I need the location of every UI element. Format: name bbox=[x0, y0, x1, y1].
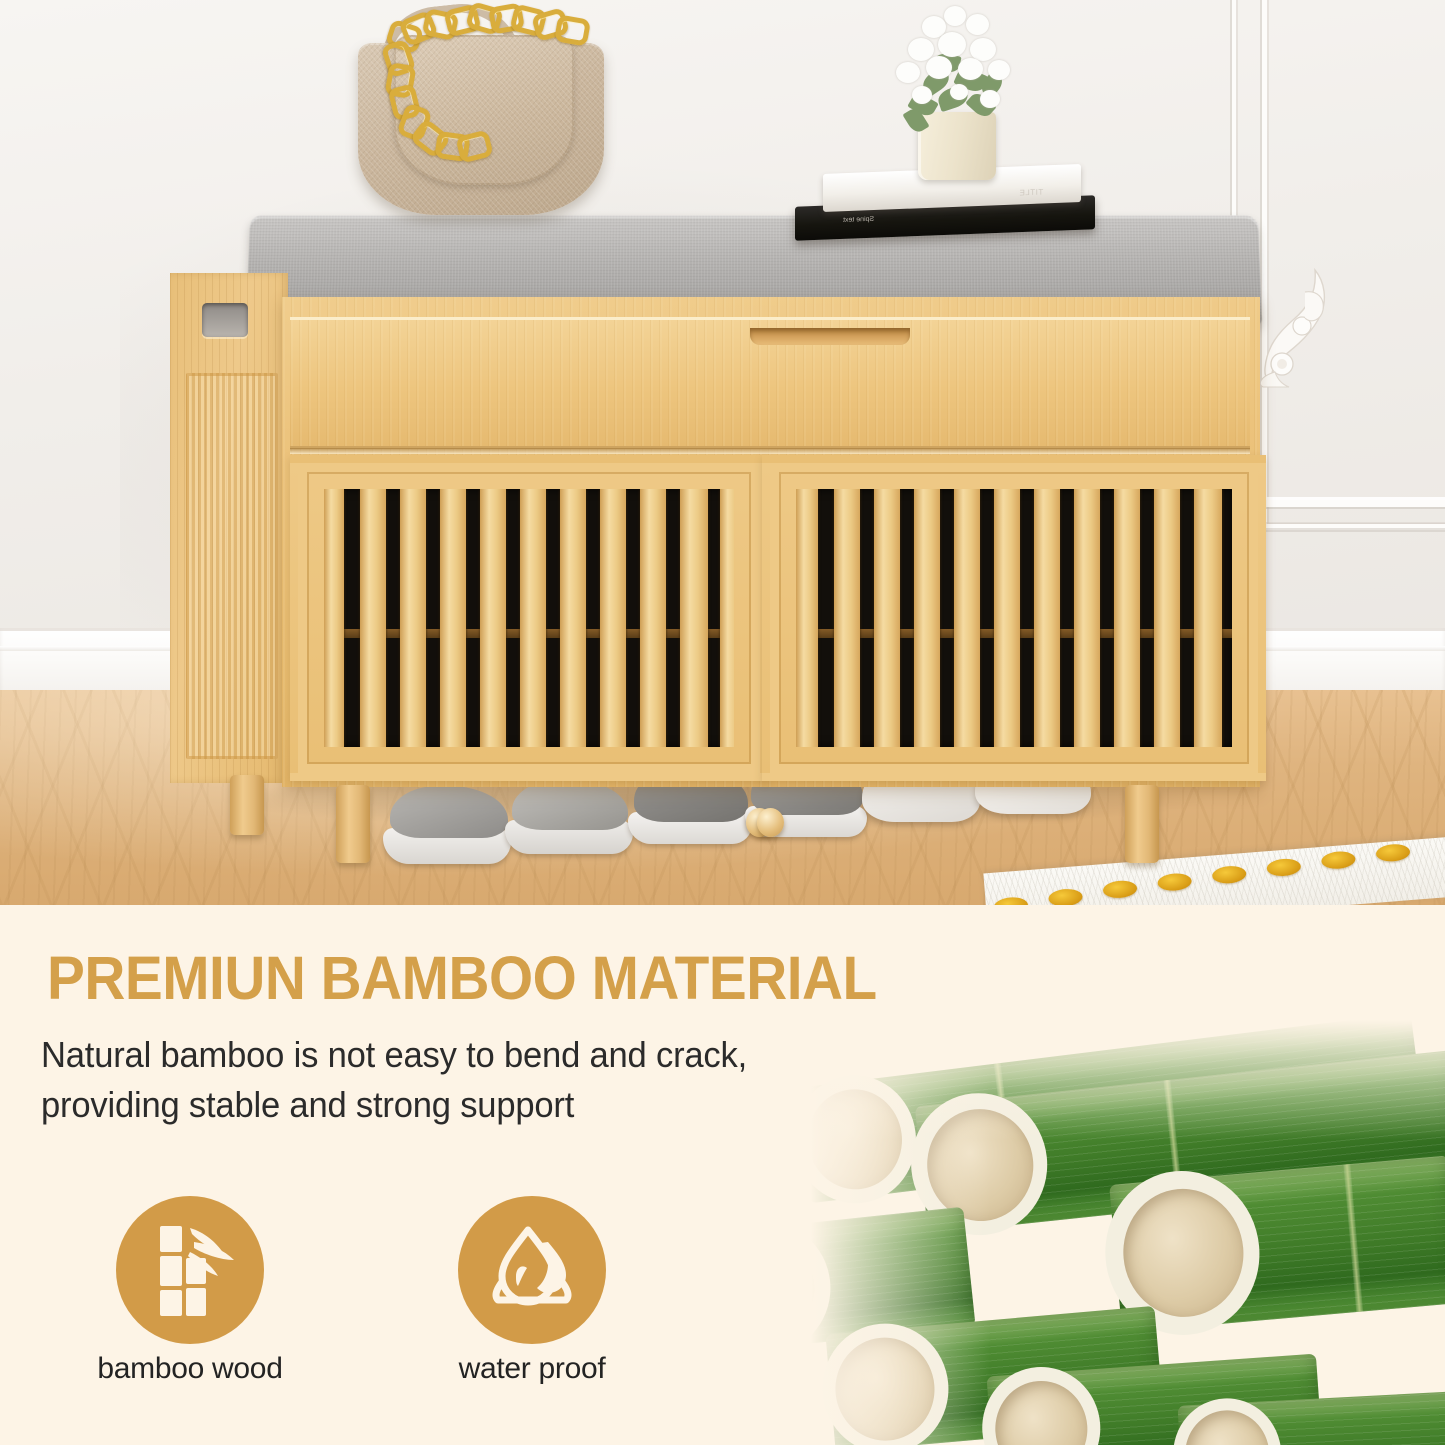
bench-side-panel bbox=[170, 273, 288, 783]
bamboo-culm-3 bbox=[1109, 1155, 1445, 1332]
flower-arrangement bbox=[860, 0, 1060, 190]
scroll-corbel-ornament bbox=[1255, 268, 1341, 388]
storage-bench bbox=[170, 255, 1260, 800]
side-handle-cutout bbox=[202, 303, 248, 337]
door-slats-right bbox=[796, 489, 1232, 747]
product-photo-scene: Spine text TITLE bbox=[0, 0, 1445, 905]
drawer-door-gap bbox=[290, 448, 1250, 454]
cabinet-door-left[interactable] bbox=[290, 455, 768, 781]
side-slat-inset bbox=[186, 373, 278, 759]
handbag bbox=[340, 5, 622, 217]
page-title: PREMIUN BAMBOO MATERIAL bbox=[47, 948, 877, 1009]
water-droplet-shield-icon bbox=[482, 1220, 582, 1320]
flip-drawer-front[interactable] bbox=[290, 317, 1250, 449]
badge-water-proof: water proof bbox=[458, 1196, 606, 1344]
drawer-finger-pull[interactable] bbox=[750, 328, 910, 345]
bench-leg-front-left bbox=[336, 785, 370, 863]
bench-leg-front-right bbox=[1125, 785, 1159, 863]
bamboo-stalk-icon bbox=[146, 1222, 236, 1318]
photo-top-fade bbox=[760, 1020, 1445, 1140]
feature-badges: bamboo wood water proof bbox=[116, 1196, 736, 1426]
product-marketing-image: Spine text TITLE bbox=[0, 0, 1445, 1445]
bamboo-culm-7 bbox=[1178, 1390, 1445, 1445]
badge-label: bamboo wood bbox=[76, 1352, 304, 1386]
cabinet-door-right[interactable] bbox=[762, 455, 1266, 781]
wall-moulding-inner bbox=[1232, 0, 1445, 528]
door-knob-right[interactable] bbox=[757, 808, 784, 837]
badge-label: water proof bbox=[418, 1352, 646, 1386]
book-spine-text: Spine text bbox=[843, 216, 874, 224]
flower-pot bbox=[918, 112, 996, 180]
bamboo-culms-photo bbox=[760, 1020, 1445, 1445]
badge-bamboo-wood: bamboo wood bbox=[116, 1196, 264, 1344]
page-subtitle: Natural bamboo is not easy to bend and c… bbox=[41, 1030, 857, 1129]
bench-leg-back-left bbox=[230, 775, 264, 835]
door-slats-left bbox=[324, 489, 734, 747]
